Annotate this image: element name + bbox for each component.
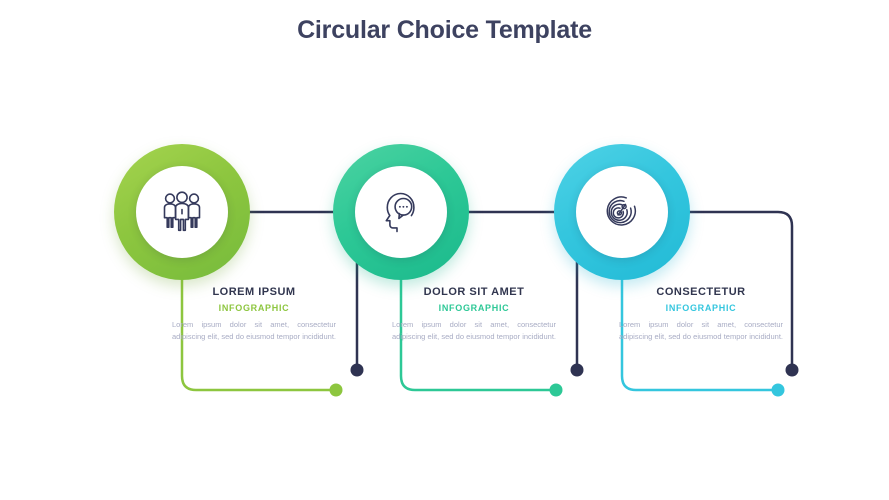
step-title-3: CONSECTETUR [613, 286, 789, 298]
connector-endpoint-dot-teal [550, 384, 563, 397]
percent-chart-icon [594, 184, 650, 240]
step-circle-3[interactable] [554, 144, 690, 280]
step-circle-2[interactable] [333, 144, 469, 280]
connector-endpoint-dot-dark-2 [571, 364, 584, 377]
people-group-icon [154, 184, 210, 240]
step-title-1: LOREM IPSUM [166, 286, 342, 298]
connector-endpoint-dot-cyan [772, 384, 785, 397]
step-icon-container-3 [576, 166, 668, 258]
step-body-3: Lorem ipsum dolor sit amet, consectetur … [613, 319, 789, 356]
connector-endpoint-dot-green [330, 384, 343, 397]
connector-endpoint-dot-dark-1 [351, 364, 364, 377]
step-body-2: Lorem ipsum dolor sit amet, consectetur … [386, 319, 562, 356]
step-textblock-2: DOLOR SIT AMET INFOGRAPHIC Lorem ipsum d… [386, 286, 562, 356]
step-title-2: DOLOR SIT AMET [386, 286, 562, 298]
step-subtitle-2: INFOGRAPHIC [386, 303, 562, 313]
step-circle-1[interactable] [114, 144, 250, 280]
step-icon-container-2 [355, 166, 447, 258]
step-textblock-1: LOREM IPSUM INFOGRAPHIC Lorem ipsum dolo… [166, 286, 342, 356]
step-subtitle-1: INFOGRAPHIC [166, 303, 342, 313]
head-speech-bubble-icon [373, 184, 429, 240]
step-body-1: Lorem ipsum dolor sit amet, consectetur … [166, 319, 342, 356]
connector-endpoint-dot-dark-3 [786, 364, 799, 377]
infographic-stage: Circular Choice Template [0, 0, 889, 500]
step-subtitle-3: INFOGRAPHIC [613, 303, 789, 313]
step-textblock-3: CONSECTETUR INFOGRAPHIC Lorem ipsum dolo… [613, 286, 789, 356]
step-icon-container-1 [136, 166, 228, 258]
